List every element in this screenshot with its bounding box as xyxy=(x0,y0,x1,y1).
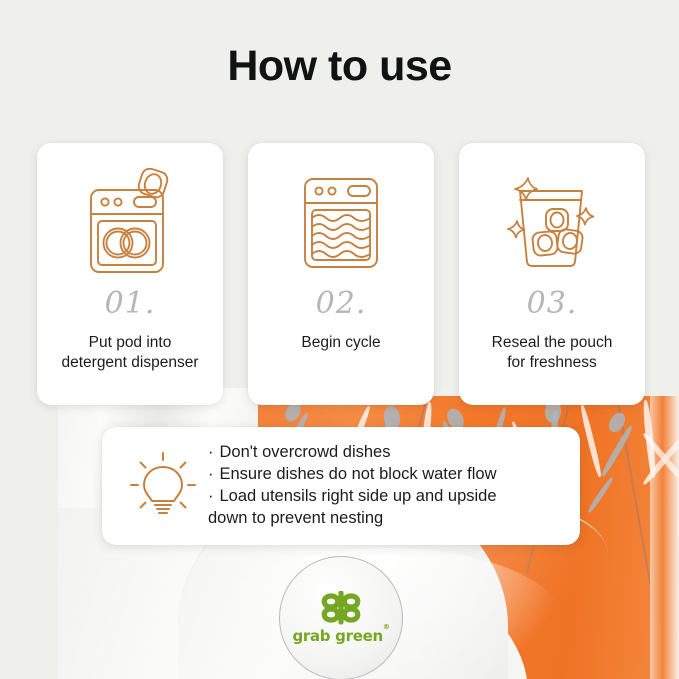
step-1-number: 01. xyxy=(105,289,156,319)
steps-row: 01. Put pod into detergent dispenser xyxy=(37,143,645,405)
step-card-1[interactable]: 01. Put pod into detergent dispenser xyxy=(37,143,223,405)
step-1-icon-wrap xyxy=(78,163,182,285)
brand-logo-badge: grab green® xyxy=(279,556,403,679)
tip-item: ·Don't overcrowd dishes xyxy=(208,442,560,464)
bullet-marker: · xyxy=(208,443,220,461)
step-2-label: Begin cycle xyxy=(297,333,384,353)
grab-green-leaf-icon xyxy=(318,591,364,625)
pouch-right-fold xyxy=(650,396,678,679)
tip-item: ·Load utensils right side up and upside xyxy=(208,486,560,508)
utensil-silhouette xyxy=(579,404,603,477)
registered-mark: ® xyxy=(383,623,390,631)
step-2-number: 02. xyxy=(316,289,367,319)
brand-name: grab green® xyxy=(292,627,389,645)
step-card-3[interactable]: 03. Reseal the pouch for freshness xyxy=(459,143,645,405)
tips-list: ·Don't overcrowd dishes ·Ensure dishes d… xyxy=(206,442,560,530)
tip-text: Don't overcrowd dishes xyxy=(220,443,391,461)
page-title: How to use xyxy=(0,42,679,91)
tip-item-continuation: down to prevent nesting xyxy=(208,508,560,530)
bullet-marker: · xyxy=(208,487,220,505)
step-2-icon-wrap xyxy=(298,163,384,285)
tip-text: Ensure dishes do not block water flow xyxy=(220,465,497,483)
tip-text: Load utensils right side up and upside xyxy=(220,487,497,505)
dishwasher-cycle-icon xyxy=(298,174,384,274)
step-1-label: Put pod into detergent dispenser xyxy=(57,333,202,373)
step-3-label: Reseal the pouch for freshness xyxy=(488,333,617,373)
utensil-silhouette xyxy=(587,476,615,514)
how-to-use-panel: grab green® How to use xyxy=(0,0,679,679)
dishwasher-pod-icon xyxy=(78,168,182,280)
pouch-sparkle-icon xyxy=(502,174,602,274)
step-3-number: 03. xyxy=(527,289,578,319)
tip-item: ·Ensure dishes do not block water flow xyxy=(208,464,560,486)
tips-card[interactable]: ·Don't overcrowd dishes ·Ensure dishes d… xyxy=(102,427,580,545)
lightbulb-icon xyxy=(130,451,196,521)
step-card-2[interactable]: 02. Begin cycle xyxy=(248,143,434,405)
tips-icon-wrap xyxy=(120,451,206,521)
step-3-icon-wrap xyxy=(502,163,602,285)
bullet-marker: · xyxy=(208,465,220,483)
